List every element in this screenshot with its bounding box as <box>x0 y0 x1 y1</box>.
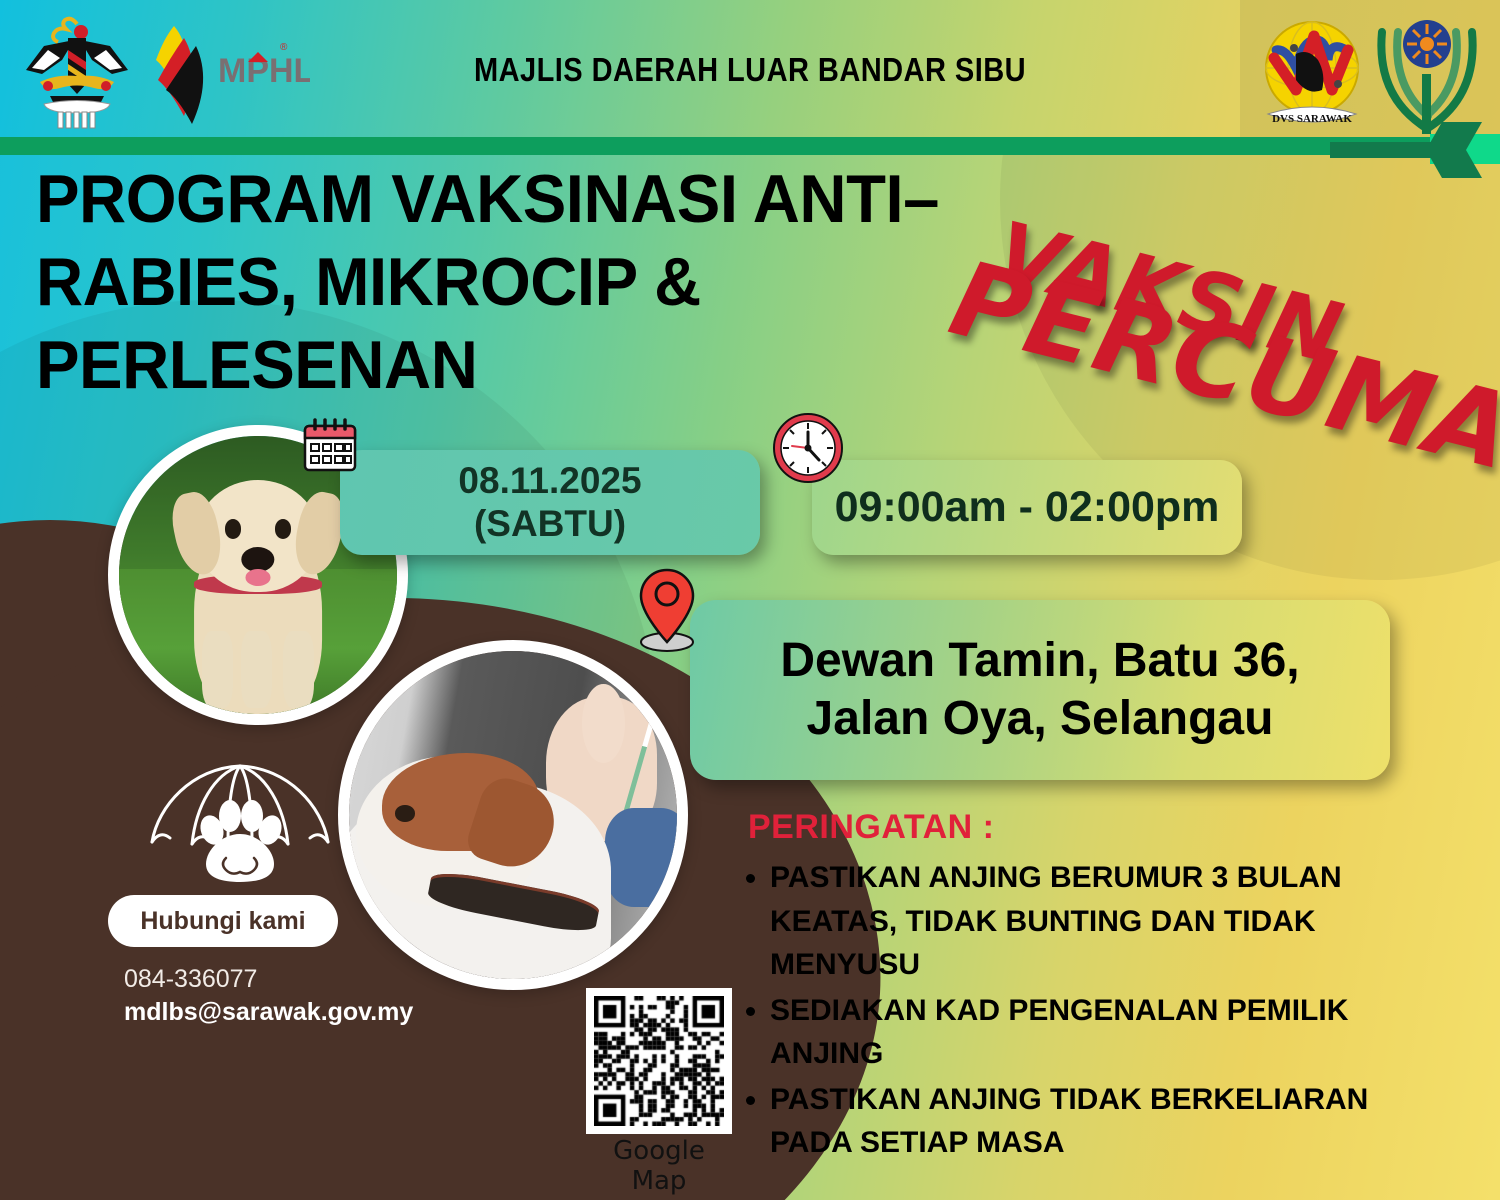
contact-email[interactable]: mdlbs@sarawak.gov.my <box>124 998 413 1027</box>
list-item: SEDIAKAN KAD PENGENALAN PEMILIK ANJING <box>770 989 1380 1076</box>
list-item: PASTIKAN ANJING TIDAK BERKELIARAN PADA S… <box>770 1078 1380 1165</box>
qr-code-label: Google Map <box>586 1136 732 1196</box>
map-pin-icon <box>632 566 702 654</box>
event-date: 08.11.2025 <box>458 460 641 503</box>
dvs-sarawak-logo-icon: DVS SARAWAK <box>1252 14 1372 136</box>
qr-code-icon <box>594 996 724 1126</box>
event-title-line-3: PERLESENAN <box>36 324 1044 407</box>
svg-text:MPHLG: MPHLG <box>218 52 310 90</box>
wheat-chevron-decoration-icon <box>1330 122 1500 178</box>
clock-icon <box>770 410 846 486</box>
event-title-line-2: RABIES, MIKROCIP & <box>36 241 1044 324</box>
green-divider-band <box>0 137 1500 155</box>
event-title-line-1: PROGRAM VAKSINASI ANTI– <box>36 158 1044 241</box>
notes-list: PASTIKAN ANJING BERUMUR 3 BULAN KEATAS, … <box>740 856 1380 1167</box>
contact-phone[interactable]: 084-336077 <box>124 965 257 994</box>
date-pill: 08.11.2025 (SABTU) <box>340 450 760 555</box>
agriculture-ministry-logo-icon <box>1372 10 1482 138</box>
location-line-2: Jalan Oya, Selangau <box>780 690 1299 748</box>
list-item: PASTIKAN ANJING BERUMUR 3 BULAN KEATAS, … <box>770 856 1380 987</box>
google-map-qr-code[interactable] <box>586 988 732 1134</box>
vaccination-photo <box>338 640 688 990</box>
poster-root: MAJLIS DAERAH LUAR BANDAR SIBU <box>0 0 1500 1200</box>
mphlg-logo-icon: MPHLG ® <box>140 20 310 128</box>
calendar-icon <box>302 418 358 474</box>
event-title: PROGRAM VAKSINASI ANTI– RABIES, MIKROCIP… <box>36 158 1044 407</box>
contact-heading: Hubungi kami <box>140 907 305 936</box>
svg-text:®: ® <box>280 42 288 53</box>
paw-umbrella-icon <box>140 758 340 898</box>
event-day: (SABTU) <box>458 503 641 546</box>
notes-title: PERINGATAN : <box>748 808 995 847</box>
location-pill: Dewan Tamin, Batu 36, Jalan Oya, Selanga… <box>690 600 1390 780</box>
event-time: 09:00am - 02:00pm <box>835 483 1220 532</box>
time-pill: 09:00am - 02:00pm <box>812 460 1242 555</box>
contact-heading-pill: Hubungi kami <box>108 895 338 947</box>
sarawak-coat-of-arms-icon <box>22 12 132 130</box>
location-line-1: Dewan Tamin, Batu 36, <box>780 632 1299 690</box>
